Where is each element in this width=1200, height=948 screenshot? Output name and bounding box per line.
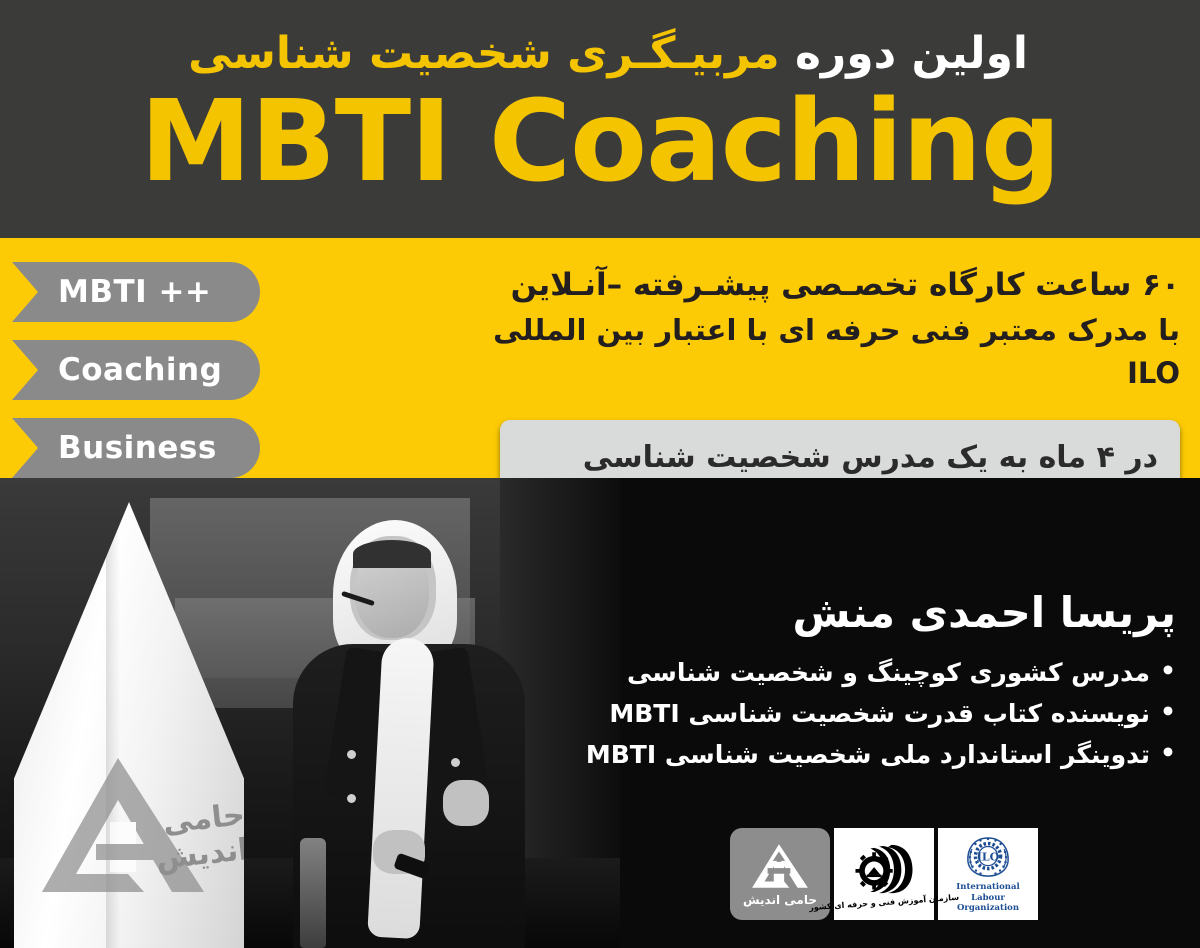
tvto-gear-icon	[853, 842, 915, 896]
speaker-photo: حامی اندیش	[0, 478, 620, 948]
page-title: MBTI Coaching	[0, 86, 1200, 198]
header-banner: اولین دوره مربیـگـری شخصیت شناسی MBTI Co…	[0, 0, 1200, 238]
feature-pill-business: Business	[12, 418, 260, 478]
speaker-name: پریسا احمدی منش	[556, 588, 1176, 638]
header-subtitle-white: اولین دوره	[795, 28, 1028, 79]
ilo-wreath-gear-icon: ILO	[960, 834, 1016, 879]
coat-button	[347, 750, 356, 759]
course-details: ۶۰ ساعت کارگاه تخصـصی پیشـرفته –آنـلاین …	[450, 262, 1180, 396]
course-certificate-line: با مدرک معتبر فنی حرفه ای با اعتبار بین …	[450, 309, 1180, 396]
feature-pill-coaching: Coaching	[12, 340, 260, 400]
svg-text:ILO: ILO	[977, 851, 1000, 864]
logo-ilo: ILO International Labour Organization	[938, 828, 1038, 920]
flag-brand-word: حامی اندیش	[151, 797, 250, 876]
feature-pill-label: MBTI ++	[12, 274, 260, 310]
partner-logo-row: ILO International Labour Organization	[730, 828, 1038, 920]
logo-tvto: سازمان آموزش فنی و حرفه ای کشور	[834, 828, 934, 920]
speaker-credentials-list: مدرس کشوری کوچینگ و شخصیت شناسی نویسنده …	[536, 660, 1176, 783]
credential-item: نویسنده کتاب قدرت شخصیت شناسی MBTI	[536, 701, 1176, 726]
feature-pill-label: Business	[12, 430, 260, 466]
hami-andish-icon	[749, 841, 811, 891]
credential-item: مدرس کشوری کوچینگ و شخصیت شناسی	[536, 660, 1176, 685]
coat-button	[347, 794, 356, 803]
logo-ilo-caption-line2: Organization	[942, 903, 1034, 914]
coat-button	[451, 758, 460, 767]
credential-item: تدوینگر استاندارد ملی شخصیت شناسی MBTI	[536, 742, 1176, 767]
header-subtitle: اولین دوره مربیـگـری شخصیت شناسی	[148, 26, 1028, 81]
course-duration-line: ۶۰ ساعت کارگاه تخصـصی پیشـرفته –آنـلاین	[450, 262, 1180, 309]
feature-pill-mbti: MBTI ++	[12, 262, 260, 322]
speaker-hand-raised	[443, 780, 489, 826]
speaker-hair	[353, 540, 431, 568]
water-bottle	[300, 838, 326, 948]
poster-root: اولین دوره مربیـگـری شخصیت شناسی MBTI Co…	[0, 0, 1200, 948]
logo-hami-caption: حامی اندیش	[743, 893, 817, 907]
header-subtitle-highlight: مربیـگـری شخصیت شناسی	[188, 28, 780, 79]
feature-pill-label: Coaching	[12, 352, 260, 388]
feature-pill-list: MBTI ++ Coaching Business	[0, 262, 260, 496]
